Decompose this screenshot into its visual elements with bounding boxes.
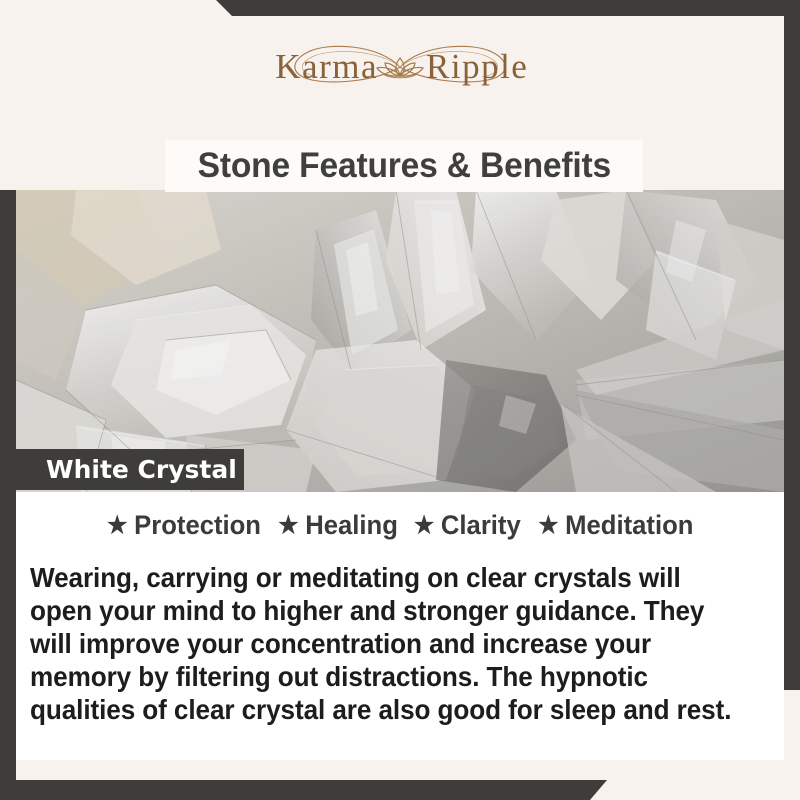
feature-label: Meditation: [565, 510, 693, 541]
title-banner: Stone Features & Benefits: [165, 140, 643, 192]
feature-item-meditation: ★ Meditation: [538, 510, 693, 541]
stone-description: Wearing, carrying or meditating on clear…: [30, 561, 741, 726]
star-icon: ★: [538, 514, 558, 538]
brand-logo-svg: Karma Ripple: [250, 38, 550, 96]
star-icon: ★: [107, 514, 127, 538]
feature-item-healing: ★ Healing: [278, 510, 398, 541]
feature-item-protection: ★ Protection: [107, 510, 261, 541]
stone-photo-image: [16, 190, 784, 492]
star-icon: ★: [278, 514, 298, 538]
brand-logo: Karma Ripple: [0, 38, 800, 96]
stone-name-label: White Crystal: [16, 455, 237, 484]
stone-photo: [16, 190, 784, 492]
feature-label: Protection: [134, 510, 261, 541]
feature-item-clarity: ★ Clarity: [414, 510, 521, 541]
stone-name-banner: White Crystal: [16, 449, 244, 490]
lotus-icon: [377, 58, 423, 78]
page-title: Stone Features & Benefits: [197, 146, 610, 186]
features-row: ★ Protection ★ Healing ★ Clarity ★ Medit…: [0, 510, 800, 541]
logo-word-karma: Karma: [275, 47, 378, 86]
feature-label: Healing: [305, 510, 398, 541]
star-icon: ★: [414, 514, 434, 538]
feature-label: Clarity: [441, 510, 521, 541]
logo-word-ripple: Ripple: [426, 47, 528, 86]
